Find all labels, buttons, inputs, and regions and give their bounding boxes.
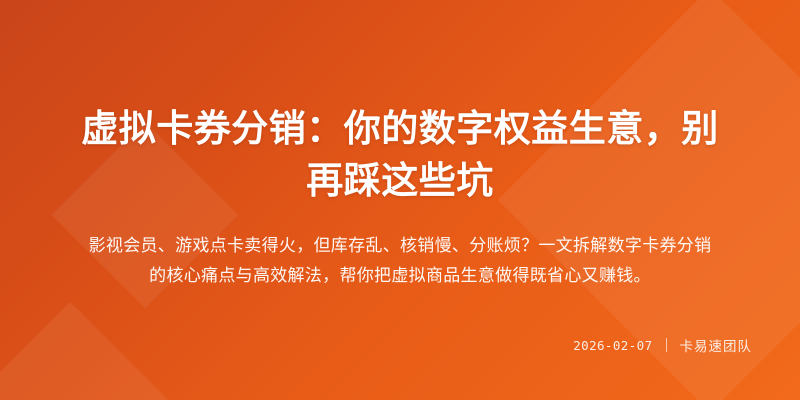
page-title: 虚拟卡券分销：你的数字权益生意，别 再踩这些坑 [48,103,752,207]
author-name: 卡易速团队 [680,335,753,355]
footer-meta: 2026-02-07 卡易速团队 [573,335,752,355]
subtitle-line-2: 的核心痛点与高效解法，帮你把虚拟商品生意做得既省心又赚钱。 [48,261,752,291]
publish-date: 2026-02-07 [573,338,652,353]
title-line-2: 再踩这些坑 [48,155,752,207]
page-subtitle: 影视会员、游戏点卡卖得火，但库存乱、核销慢、分账烦？一文拆解数字卡券分销 的核心… [48,231,752,291]
title-line-1: 虚拟卡券分销：你的数字权益生意，别 [48,103,752,155]
subtitle-line-1: 影视会员、游戏点卡卖得火，但库存乱、核销慢、分账烦？一文拆解数字卡券分销 [48,231,752,261]
meta-divider [666,338,667,352]
cover-card: 虚拟卡券分销：你的数字权益生意，别 再踩这些坑 影视会员、游戏点卡卖得火，但库存… [0,0,800,400]
